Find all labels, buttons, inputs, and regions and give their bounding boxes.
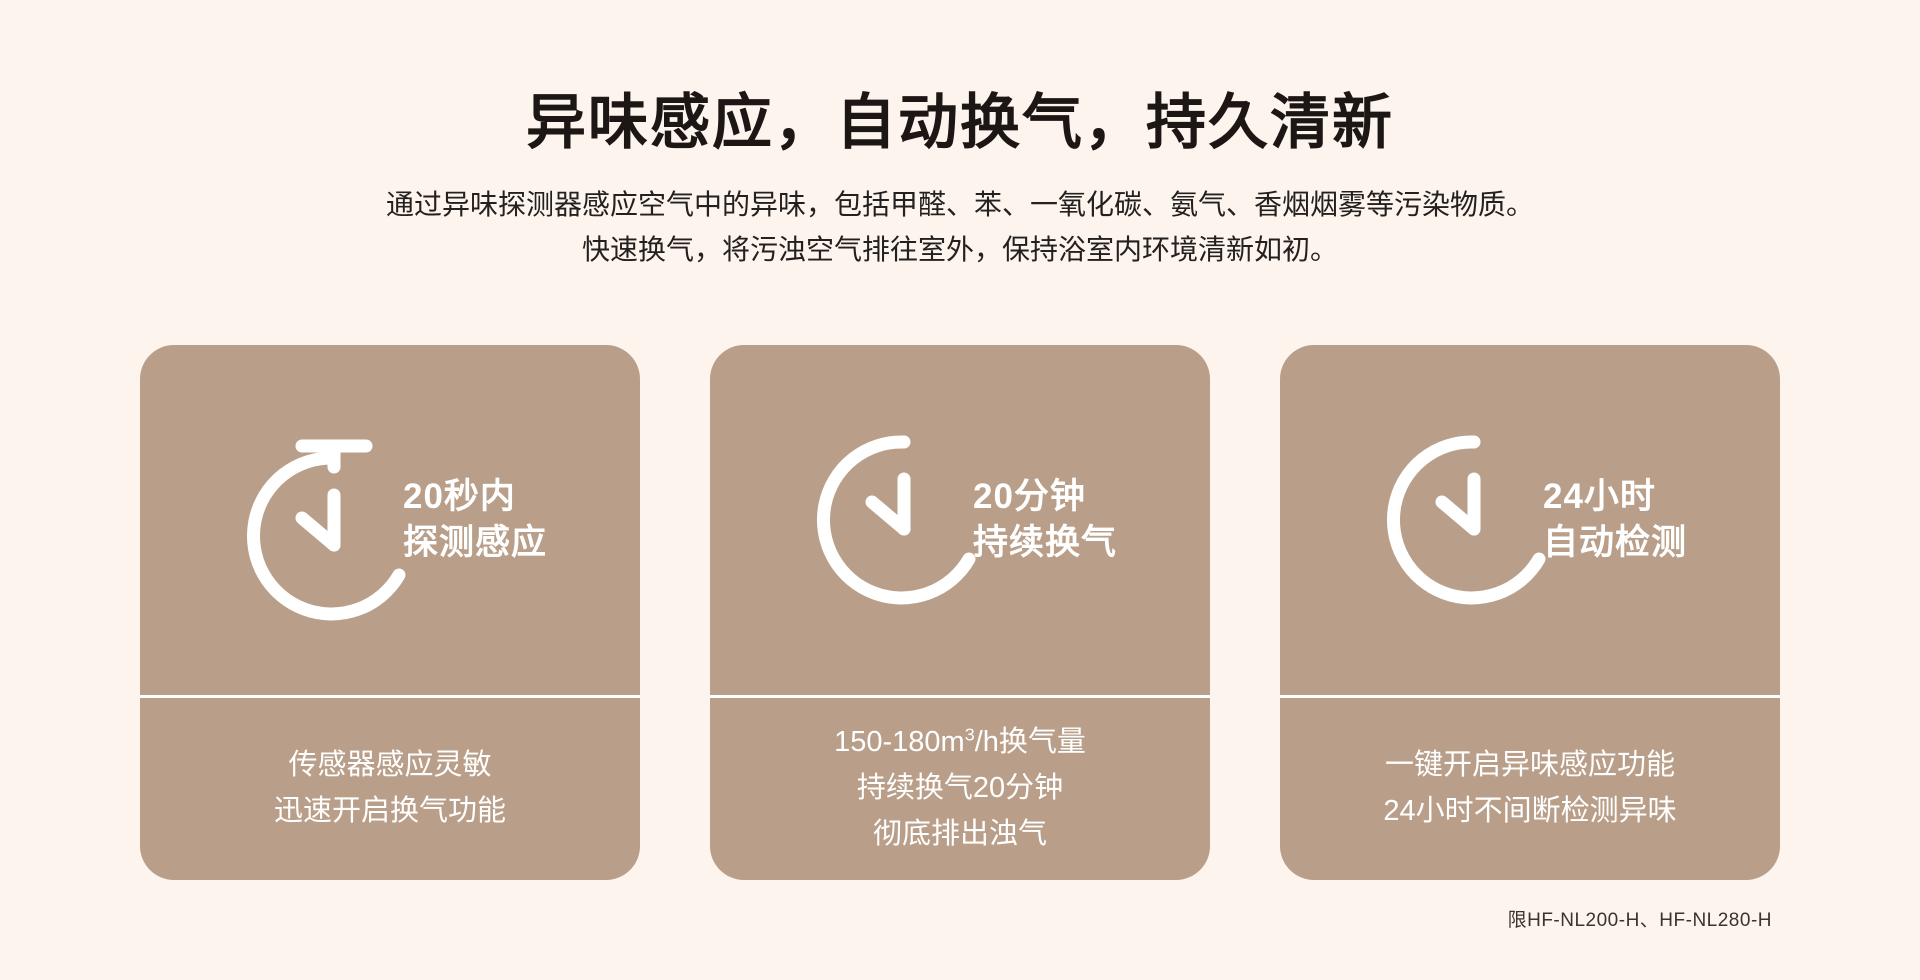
card-footer-line-1: 150-180m3/h换气量 bbox=[834, 720, 1086, 766]
page-subtitle: 通过异味探测器感应空气中的异味，包括甲醛、苯、一氧化碳、氨气、香烟烟雾等污染物质… bbox=[180, 183, 1740, 273]
clock-icon bbox=[1379, 405, 1569, 635]
feature-card[interactable]: 20秒内 探测感应 传感器感应灵敏 迅速开启换气功能 bbox=[140, 345, 640, 880]
card-footer-line-2: 24小时不间断检测异味 bbox=[1383, 789, 1676, 835]
feature-card-list: 20秒内 探测感应 传感器感应灵敏 迅速开启换气功能 bbox=[140, 345, 1780, 880]
model-footnote: 限HF-NL200-H、HF-NL280-H bbox=[1508, 905, 1772, 932]
card-headline: 24小时 自动检测 bbox=[1543, 474, 1687, 566]
card-headline-line-2: 自动检测 bbox=[1543, 520, 1687, 566]
card-headline-line-1: 24小时 bbox=[1543, 474, 1687, 520]
card-footer: 150-180m3/h换气量 持续换气20分钟 彻底排出浊气 bbox=[710, 698, 1210, 880]
card-headline: 20秒内 探测感应 bbox=[403, 474, 547, 566]
clock-icon bbox=[809, 405, 999, 635]
card-headline-line-1: 20秒内 bbox=[403, 474, 547, 520]
feature-card[interactable]: 20分钟 持续换气 150-180m3/h换气量 持续换气20分钟 彻底排出浊气 bbox=[710, 345, 1210, 880]
card-footer-line-1: 一键开启异味感应功能 bbox=[1385, 743, 1675, 789]
card-headline: 20分钟 持续换气 bbox=[973, 474, 1117, 566]
card-footer-line-3: 彻底排出浊气 bbox=[873, 812, 1047, 858]
card-footer: 传感器感应灵敏 迅速开启换气功能 bbox=[140, 698, 640, 880]
card-footer-line-2: 持续换气20分钟 bbox=[857, 766, 1063, 812]
card-visual: 20秒内 探测感应 bbox=[140, 345, 640, 695]
card-headline-line-1: 20分钟 bbox=[973, 474, 1117, 520]
page-title: 异味感应，自动换气，持久清新 bbox=[0, 88, 1920, 157]
feature-page: 异味感应，自动换气，持久清新 通过异味探测器感应空气中的异味，包括甲醛、苯、一氧… bbox=[0, 0, 1920, 980]
card-visual: 20分钟 持续换气 bbox=[710, 345, 1210, 695]
card-visual: 24小时 自动检测 bbox=[1280, 345, 1780, 695]
page-header: 异味感应，自动换气，持久清新 通过异味探测器感应空气中的异味，包括甲醛、苯、一氧… bbox=[0, 0, 1920, 273]
card-headline-line-2: 探测感应 bbox=[403, 520, 547, 566]
feature-card[interactable]: 24小时 自动检测 一键开启异味感应功能 24小时不间断检测异味 bbox=[1280, 345, 1780, 880]
card-footer: 一键开启异味感应功能 24小时不间断检测异味 bbox=[1280, 698, 1780, 880]
card-footer-line-2: 迅速开启换气功能 bbox=[274, 789, 506, 835]
stopwatch-icon bbox=[239, 405, 429, 635]
card-headline-line-2: 持续换气 bbox=[973, 520, 1117, 566]
card-footer-line-1: 传感器感应灵敏 bbox=[288, 743, 491, 789]
subtitle-line-2: 快速换气，将污浊空气排往室外，保持浴室内环境清新如初。 bbox=[180, 228, 1740, 273]
subtitle-line-1: 通过异味探测器感应空气中的异味，包括甲醛、苯、一氧化碳、氨气、香烟烟雾等污染物质… bbox=[180, 183, 1740, 228]
